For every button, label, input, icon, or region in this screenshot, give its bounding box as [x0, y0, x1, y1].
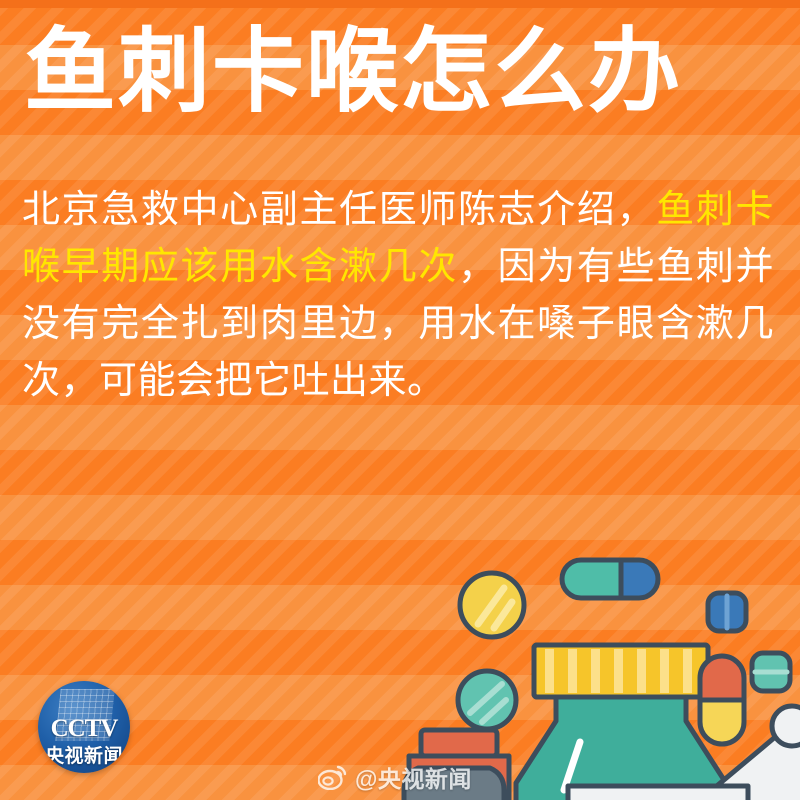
poster-canvas: 鱼刺卡喉怎么办 北京急救中心副主任医师陈志介绍，鱼刺卡喉早期应该用水含漱几次，因… [0, 0, 800, 800]
cctv-logo-subtext: 央视新闻 [38, 741, 130, 768]
weibo-watermark: @央视新闻 [318, 760, 472, 794]
body-segment-1: 北京急救中心副主任医师陈志介绍， [22, 189, 656, 231]
page-title: 鱼刺卡喉怎么办 [24, 14, 784, 129]
cctv-logo-text: CCTV [38, 715, 130, 743]
weibo-handle-text: @央视新闻 [355, 760, 472, 794]
cctv-logo: CCTV 央视新闻 [38, 681, 130, 773]
weibo-eye-icon [318, 764, 348, 790]
body-paragraph: 北京急救中心副主任医师陈志介绍，鱼刺卡喉早期应该用水含漱几次，因为有些鱼刺并没有… [22, 182, 774, 410]
background-top-edge [0, 0, 800, 8]
